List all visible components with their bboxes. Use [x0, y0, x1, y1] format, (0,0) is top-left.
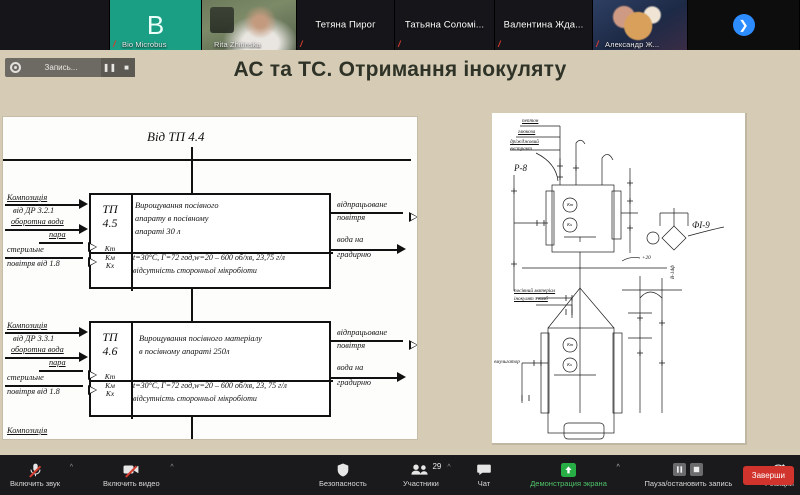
output-label: відпрацьоване	[337, 200, 387, 209]
participant-name: Bio Microbus	[110, 40, 201, 49]
operation-parameters-4-5: t=30°C, Г=72 год,w=20 – 600 об/хв, 23,75…	[133, 252, 333, 278]
from-tp-label: Від ТП 4.4	[147, 129, 205, 145]
participant-tile-spacer	[0, 0, 110, 50]
chat-bubble-icon	[477, 463, 491, 477]
input-arrow-hollow	[88, 242, 97, 252]
feed-label-extract: екстракт	[510, 146, 532, 152]
page-title: АС та ТС. Отримання інокуляту	[0, 58, 800, 82]
param-line: t=30°C, Г=72 год,w=20 – 600 об/хв, 23,75…	[133, 252, 333, 265]
op-code-text: ТП	[91, 331, 129, 345]
input-label: від ДР 3.3.1	[13, 334, 54, 343]
input-label: від ДР 3.2.1	[13, 206, 54, 215]
equipment-tag-b14f: В-14ф	[670, 265, 676, 279]
toolbar-label: Безопасность	[319, 479, 367, 488]
inline-label-posivny: посівний матеріал	[514, 288, 555, 294]
input-label: стерильне	[7, 245, 44, 254]
circle-tag-kh: Кх	[567, 362, 572, 367]
toolbar-unmute-button[interactable]: Включить звук ^	[6, 455, 64, 495]
output-label: вода на	[337, 363, 363, 372]
output-label: градирню	[337, 378, 371, 387]
input-label: Композиція	[7, 193, 47, 202]
op-number-text: 4.6	[91, 345, 129, 359]
inline-label-inokulat: інокулят з колб	[514, 296, 548, 302]
participant-name: Александр Ж...	[593, 40, 687, 49]
input-arrow-solid	[79, 327, 88, 337]
input-label: повітря від 1.8	[7, 259, 60, 268]
op-number-text: 4.5	[91, 217, 129, 231]
chevron-up-icon[interactable]: ^	[447, 464, 450, 471]
input-arrow-hollow	[88, 257, 97, 267]
input-label: пара	[49, 358, 66, 367]
op-code-text: ТП	[91, 203, 129, 217]
operation-description-4-5: Вирощування посівного апарату в посівном…	[135, 199, 327, 238]
process-flow-diagram: Від ТП 4.4 ТП 4.5 Кт Км Кх Вирощування п…	[3, 117, 417, 439]
circle-tag-kh-upper: Кх	[567, 222, 572, 227]
desc-line: апараті 30 л	[135, 225, 327, 238]
microphone-muted-icon	[30, 463, 41, 477]
toolbar-label: Включить звук	[10, 479, 60, 488]
chevron-up-icon[interactable]: ^	[170, 464, 173, 471]
participant-filmstrip[interactable]: B / Bio Microbus Rita Zhitinska / Тетяна…	[0, 0, 800, 50]
equipment-tag-fi9: ФІ-9	[692, 220, 710, 230]
inline-label-plus20: +20	[642, 255, 651, 261]
chevron-right-icon[interactable]: ❯	[688, 0, 799, 50]
toolbar-share-screen-button[interactable]: Демонстрация экрана ^	[523, 455, 614, 495]
pause-stop-icon	[673, 463, 703, 477]
zoom-meeting-window: B / Bio Microbus Rita Zhitinska / Тетяна…	[0, 0, 800, 495]
input-arrow-solid	[79, 199, 88, 209]
output-label: повітря	[337, 213, 365, 222]
chevron-up-icon[interactable]: ^	[70, 464, 73, 471]
feed-label-peptone: пептон	[522, 118, 538, 124]
bottom-partial-label: Композиція	[7, 426, 47, 435]
participants-icon: 29	[411, 463, 430, 477]
toolbar-chat-button[interactable]: Чат	[469, 455, 500, 495]
meeting-toolbar[interactable]: Включить звук ^ Включить видео ^ Безопас…	[0, 455, 800, 495]
share-screen-icon	[561, 463, 576, 477]
output-label: вода на	[337, 235, 363, 244]
output-label: градирню	[337, 250, 371, 259]
mic-muted-icon: /	[498, 40, 505, 49]
mic-muted-icon: /	[398, 40, 405, 49]
circle-tag-kt-upper: Кт	[567, 202, 573, 207]
output-arrow-solid	[397, 244, 406, 254]
desc-line: Вирощування посівного матеріалу	[139, 332, 331, 345]
shield-icon	[337, 463, 349, 477]
toolbar-label: Чат	[478, 479, 490, 488]
input-arrow-solid	[79, 224, 88, 234]
desc-line: в посівному апараті 250л	[139, 345, 331, 358]
participant-tile-aleksandr-zh[interactable]: / Александр Ж...	[593, 0, 688, 50]
toolbar-participants-button[interactable]: 29 Участники ^	[395, 455, 447, 495]
inline-label-emulgator: емульгатор	[494, 359, 520, 365]
input-arrow-solid	[79, 352, 88, 362]
input-label: оборотна вода	[11, 345, 64, 354]
input-label: повітря від 1.8	[7, 387, 60, 396]
param-line: t=30°C, Г=72 год,w=20 – 600 об/хв, 23, 7…	[133, 380, 333, 393]
shared-screen-stage: Запись... ❚❚ ■ АС та ТС. Отримання іноку…	[0, 50, 800, 455]
operation-description-4-6: Вирощування посівного матеріалу в посівн…	[139, 332, 331, 358]
desc-line: Вирощування посівного	[135, 199, 327, 212]
equipment-tag-p8: Р-8	[514, 163, 527, 173]
output-arrow-solid	[397, 372, 406, 382]
participant-name: Валентина Жда...	[495, 20, 592, 31]
end-meeting-button[interactable]: Заверши	[743, 466, 794, 485]
input-label: Композиція	[7, 321, 47, 330]
feed-label-yeast: дріжджовий	[510, 139, 539, 145]
chevron-up-icon[interactable]: ^	[617, 464, 620, 471]
input-label: оборотна вода	[11, 217, 64, 226]
participant-tile-tatyana-solomi[interactable]: / Татьяна Соломі...	[395, 0, 495, 50]
participants-count: 29	[432, 462, 441, 471]
output-arrow-hollow	[409, 212, 417, 222]
participant-tile-rita-zhitinska[interactable]: Rita Zhitinska	[202, 0, 297, 50]
toolbar-security-button[interactable]: Безопасность	[313, 455, 374, 495]
param-line: відсутність сторонньої мікробіоти	[133, 265, 333, 278]
input-arrow-hollow	[88, 385, 97, 395]
output-label: відпрацьоване	[337, 328, 387, 337]
feed-label-glucose: глюкоза	[518, 129, 535, 135]
pid-svg	[492, 113, 745, 443]
desc-line: апарату в посівному	[135, 212, 327, 225]
participant-tile-tetyana-pyroh[interactable]: / Тетяна Пирог	[297, 0, 395, 50]
participant-tile-valentina-zhda[interactable]: / Валентина Жда...	[495, 0, 593, 50]
toolbar-label: Демонстрация экрана	[530, 479, 607, 488]
operation-code-4-6: ТП 4.6	[91, 331, 129, 359]
avatar-initial-letter: B	[147, 10, 164, 41]
input-arrow-hollow	[88, 370, 97, 380]
input-label: стерильне	[7, 373, 44, 382]
operation-code-4-5: ТП 4.5	[91, 203, 129, 231]
param-line: відсутність сторонньої мікробіоти	[133, 393, 333, 406]
toolbar-start-video-button[interactable]: Включить видео ^	[98, 455, 165, 495]
input-label: пара	[49, 230, 66, 239]
output-label: повітря	[337, 341, 365, 350]
pid-technical-drawing: пептон глюкоза дріжджовий екстракт Р-8 Ф…	[492, 113, 745, 443]
output-arrow-hollow	[409, 340, 417, 350]
toolbar-label: Пауза/остановить запись	[645, 479, 733, 488]
mic-muted-icon: /	[300, 40, 307, 49]
toolbar-label: Участники	[403, 479, 439, 488]
filmstrip-next-page-button[interactable]: ❯	[688, 0, 800, 50]
participant-name: Rita Zhitinska	[202, 40, 296, 49]
camera-muted-icon	[123, 463, 139, 477]
participant-name: Тетяна Пирог	[297, 20, 394, 31]
toolbar-pause-stop-recording-button[interactable]: Пауза/остановить запись	[638, 455, 739, 495]
circle-tag-kt: Кт	[567, 342, 573, 347]
operation-parameters-4-6: t=30°C, Г=72 год,w=20 – 600 об/хв, 23, 7…	[133, 380, 333, 406]
participant-name: Татьяна Соломі...	[395, 20, 494, 31]
toolbar-label: Включить видео	[103, 479, 160, 488]
participant-tile-bio-microbus[interactable]: B / Bio Microbus	[110, 0, 202, 50]
